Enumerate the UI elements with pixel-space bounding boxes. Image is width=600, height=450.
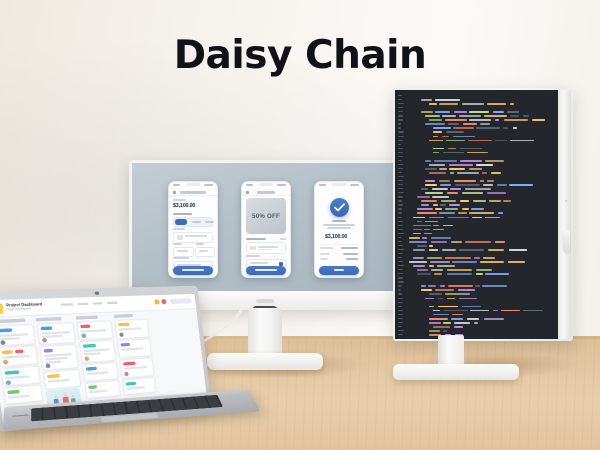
laptop-ports bbox=[12, 414, 29, 416]
code-line-number bbox=[398, 131, 404, 132]
code-line-number bbox=[398, 221, 403, 222]
code-token bbox=[447, 273, 473, 275]
kanban-card[interactable] bbox=[36, 322, 75, 345]
expiry-label bbox=[173, 243, 182, 245]
saved-card-row[interactable] bbox=[246, 242, 286, 254]
code-token bbox=[493, 310, 499, 312]
code-token bbox=[433, 127, 451, 129]
see-all-link[interactable] bbox=[280, 238, 286, 240]
code-token bbox=[432, 196, 449, 198]
code-line-number bbox=[398, 164, 403, 165]
code-token bbox=[480, 180, 485, 182]
code-token bbox=[413, 257, 424, 259]
code-token bbox=[431, 241, 447, 243]
monitor-primary-screen: $3,100.00 bbox=[132, 163, 398, 291]
code-line-number bbox=[398, 281, 404, 282]
code-line-number bbox=[398, 229, 403, 230]
code-token bbox=[484, 115, 507, 117]
code-token bbox=[467, 152, 488, 154]
code-token bbox=[469, 111, 488, 113]
code-token bbox=[476, 269, 493, 271]
code-token bbox=[440, 184, 452, 186]
kanban-card[interactable] bbox=[0, 365, 41, 386]
check-circle-icon bbox=[330, 198, 349, 217]
code-token bbox=[454, 111, 467, 113]
apply-promo-icon[interactable] bbox=[279, 262, 283, 266]
code-line-number bbox=[398, 245, 403, 246]
code-token bbox=[469, 212, 494, 214]
laptop: Project Dashboard Team Workspace bbox=[6, 286, 252, 438]
page-title: Daisy Chain bbox=[0, 33, 600, 78]
code-line-number bbox=[398, 241, 402, 242]
code-line-number bbox=[398, 115, 403, 116]
code-token bbox=[413, 225, 431, 227]
code-token bbox=[437, 265, 456, 267]
receipt-row-date bbox=[320, 258, 358, 261]
code-token bbox=[433, 225, 438, 227]
code-token bbox=[446, 140, 465, 142]
kanban-card[interactable] bbox=[117, 338, 152, 358]
amount-label bbox=[173, 199, 186, 201]
column-title bbox=[0, 319, 25, 323]
code-token bbox=[451, 318, 463, 320]
code-token bbox=[455, 184, 480, 186]
payment-methods-label bbox=[246, 238, 266, 240]
code-line-number bbox=[398, 289, 401, 290]
code-token bbox=[462, 192, 483, 194]
code-token bbox=[495, 140, 507, 142]
dashboard-topbar: Project Dashboard Team Workspace bbox=[0, 294, 196, 318]
code-token bbox=[453, 127, 474, 129]
code-line-number bbox=[398, 306, 402, 307]
app-subtitle: Team Workspace bbox=[7, 307, 31, 311]
code-line-number bbox=[398, 136, 404, 137]
code-token bbox=[417, 245, 427, 247]
code-token bbox=[503, 200, 511, 202]
kanban-card[interactable] bbox=[82, 362, 119, 382]
nav-item-tasks[interactable] bbox=[77, 303, 88, 306]
nav-item-board[interactable] bbox=[60, 303, 73, 306]
promo-banner: 50% OFF bbox=[246, 198, 286, 234]
code-token bbox=[452, 261, 477, 263]
code-token bbox=[443, 322, 451, 324]
success-subtitle bbox=[323, 224, 355, 226]
code-token bbox=[434, 160, 457, 162]
code-token bbox=[475, 285, 480, 287]
code-token bbox=[433, 314, 449, 316]
code-token bbox=[454, 180, 476, 182]
code-line-number bbox=[398, 249, 404, 250]
code-token bbox=[458, 212, 467, 214]
confirm-payment-button[interactable] bbox=[246, 266, 286, 275]
code-token bbox=[429, 140, 443, 142]
code-token bbox=[462, 306, 481, 308]
code-token bbox=[457, 172, 478, 174]
code-token bbox=[442, 136, 449, 138]
kanban-card[interactable] bbox=[43, 369, 82, 390]
code-token bbox=[483, 184, 493, 186]
code-token bbox=[421, 204, 429, 206]
code-token bbox=[503, 127, 508, 129]
success-amount: $3,100.00 bbox=[325, 234, 347, 240]
code-token bbox=[439, 168, 447, 170]
code-token bbox=[429, 318, 448, 320]
code-token bbox=[433, 326, 450, 328]
cvv-label bbox=[196, 243, 204, 245]
code-token bbox=[450, 172, 454, 174]
code-token bbox=[467, 318, 479, 320]
code-token bbox=[449, 164, 473, 166]
code-line-number bbox=[398, 293, 402, 294]
code-token bbox=[460, 148, 482, 150]
search-input[interactable] bbox=[170, 298, 192, 304]
code-line-number bbox=[398, 123, 401, 124]
code-token bbox=[432, 188, 448, 190]
monitor-secondary-stand-base bbox=[393, 364, 519, 380]
code-token bbox=[507, 111, 519, 113]
code-token bbox=[429, 322, 441, 324]
monitor-power-button[interactable] bbox=[563, 230, 570, 252]
code-token bbox=[417, 208, 433, 210]
payment-method-label bbox=[173, 213, 192, 215]
code-token bbox=[440, 285, 445, 287]
code-token bbox=[443, 330, 447, 332]
phone-nav-title bbox=[180, 191, 206, 194]
kanban-card[interactable] bbox=[3, 384, 43, 404]
code-token bbox=[460, 160, 482, 162]
code-token bbox=[409, 261, 427, 263]
code-line-number bbox=[398, 225, 403, 226]
code-token bbox=[435, 208, 442, 210]
code-token bbox=[429, 293, 442, 295]
code-token bbox=[462, 208, 469, 210]
code-line-number bbox=[398, 140, 403, 141]
code-line-number bbox=[398, 208, 402, 209]
code-token bbox=[448, 123, 459, 125]
code-token bbox=[421, 111, 433, 113]
code-token bbox=[474, 257, 480, 259]
kanban-card[interactable] bbox=[122, 377, 157, 396]
code-token bbox=[497, 184, 507, 186]
card-number-field[interactable] bbox=[173, 232, 213, 243]
code-token bbox=[425, 298, 434, 300]
code-line-number bbox=[398, 217, 402, 218]
code-token bbox=[488, 249, 504, 251]
code-token bbox=[510, 140, 534, 142]
receipt-row-method bbox=[320, 253, 358, 256]
amount-value: $3,100.00 bbox=[173, 203, 195, 209]
code-token bbox=[433, 152, 439, 154]
kanban-card[interactable] bbox=[0, 324, 36, 347]
code-token bbox=[417, 221, 422, 223]
code-token bbox=[424, 229, 431, 231]
success-subtitle-2 bbox=[327, 227, 351, 229]
code-token bbox=[421, 289, 432, 291]
code-token bbox=[460, 200, 469, 202]
code-token bbox=[429, 249, 439, 251]
code-token bbox=[429, 265, 434, 267]
payment-method-segmented[interactable] bbox=[173, 217, 213, 227]
kanban-card[interactable] bbox=[79, 339, 116, 363]
code-token bbox=[463, 123, 478, 125]
code-token bbox=[424, 233, 432, 235]
code-token bbox=[442, 249, 456, 251]
phone-nav-bar bbox=[169, 189, 217, 196]
phone-status-bar bbox=[319, 184, 359, 187]
code-token bbox=[495, 119, 499, 121]
code-line-number bbox=[398, 318, 403, 319]
code-line-number bbox=[398, 314, 403, 315]
code-line-number bbox=[398, 156, 403, 157]
code-token bbox=[429, 217, 444, 219]
code-token bbox=[422, 237, 427, 239]
done-button[interactable] bbox=[319, 266, 359, 275]
code-token bbox=[476, 164, 492, 166]
success-title bbox=[332, 220, 346, 222]
phone-nav-bar bbox=[242, 189, 290, 196]
code-token bbox=[532, 119, 545, 121]
code-token bbox=[476, 273, 483, 275]
code-token bbox=[450, 188, 461, 190]
code-token bbox=[435, 111, 450, 113]
code-token bbox=[468, 140, 492, 142]
code-token bbox=[425, 160, 431, 162]
monitor-primary-logo bbox=[256, 299, 274, 303]
code-token bbox=[443, 152, 464, 154]
code-token bbox=[447, 269, 472, 271]
code-token bbox=[425, 184, 437, 186]
code-token bbox=[425, 192, 443, 194]
promo-code-label bbox=[246, 255, 260, 257]
avatar[interactable] bbox=[161, 299, 167, 304]
code-token bbox=[429, 164, 445, 166]
code-token bbox=[421, 200, 437, 202]
code-token bbox=[469, 168, 482, 170]
code-token bbox=[447, 298, 455, 300]
code-token bbox=[470, 310, 489, 312]
code-token bbox=[441, 200, 456, 202]
code-token bbox=[428, 285, 436, 287]
phone-nav-title bbox=[257, 191, 275, 194]
code-token bbox=[440, 204, 445, 206]
avatar[interactable] bbox=[154, 299, 160, 304]
code-line-number bbox=[398, 326, 402, 327]
code-token bbox=[409, 241, 427, 243]
expiry-field[interactable] bbox=[173, 247, 194, 257]
back-icon[interactable] bbox=[173, 191, 176, 194]
code-token bbox=[413, 229, 422, 231]
receipt-row-reference bbox=[320, 247, 358, 250]
code-line-number bbox=[398, 160, 402, 161]
code-token bbox=[487, 192, 506, 194]
continue-button[interactable] bbox=[173, 266, 213, 275]
code-line-number bbox=[398, 237, 401, 238]
kanban-card[interactable] bbox=[119, 357, 154, 379]
code-token bbox=[444, 310, 468, 312]
code-token bbox=[458, 289, 475, 291]
code-token bbox=[433, 148, 444, 150]
code-token bbox=[443, 225, 454, 227]
code-token bbox=[471, 208, 483, 210]
column-title bbox=[114, 314, 133, 318]
code-token bbox=[485, 273, 509, 275]
phone-status-bar bbox=[246, 184, 286, 187]
code-line-number bbox=[398, 285, 402, 286]
code-line-number bbox=[398, 330, 404, 331]
code-token bbox=[473, 200, 486, 202]
code-token bbox=[523, 310, 544, 312]
code-token bbox=[484, 318, 505, 320]
code-token bbox=[491, 172, 501, 174]
code-token bbox=[421, 285, 426, 287]
code-token bbox=[462, 103, 484, 105]
code-token bbox=[472, 217, 481, 219]
code-token bbox=[510, 115, 519, 117]
segment-option-3[interactable] bbox=[205, 221, 214, 223]
code-line-number bbox=[398, 310, 403, 311]
code-token bbox=[435, 99, 460, 101]
code-line-number bbox=[398, 298, 403, 299]
code-token bbox=[523, 115, 529, 117]
divider bbox=[320, 244, 358, 245]
code-token bbox=[431, 237, 451, 239]
code-line-number bbox=[398, 127, 401, 128]
segment-option-2[interactable] bbox=[192, 221, 201, 223]
code-token bbox=[453, 136, 475, 138]
code-token bbox=[459, 298, 477, 300]
kanban-card[interactable] bbox=[39, 344, 79, 371]
code-token bbox=[413, 217, 425, 219]
code-token bbox=[425, 221, 438, 223]
kanban-card[interactable] bbox=[84, 380, 120, 399]
code-line-number bbox=[398, 277, 403, 278]
code-token bbox=[501, 310, 520, 312]
code-token bbox=[445, 119, 467, 121]
cvv-field[interactable] bbox=[195, 247, 215, 257]
code-token bbox=[439, 180, 451, 182]
nav-item-team[interactable] bbox=[107, 302, 118, 305]
code-token bbox=[510, 103, 515, 105]
code-token bbox=[417, 196, 430, 198]
kanban-card[interactable] bbox=[114, 319, 149, 340]
code-token bbox=[425, 180, 435, 182]
code-line-number bbox=[398, 168, 403, 169]
code-token bbox=[489, 200, 501, 202]
cardholder-label bbox=[173, 257, 189, 259]
code-token bbox=[429, 306, 434, 308]
code-line-number bbox=[398, 148, 403, 149]
phone-mockup-payment-success: $3,100.00 bbox=[314, 181, 364, 278]
code-token bbox=[485, 217, 500, 219]
code-token bbox=[433, 310, 440, 312]
code-token bbox=[431, 269, 443, 271]
phone-status-bar bbox=[173, 184, 213, 187]
code-token bbox=[480, 261, 504, 263]
code-token bbox=[451, 241, 462, 243]
code-token bbox=[417, 212, 437, 214]
code-token bbox=[417, 269, 428, 271]
code-token bbox=[429, 119, 442, 121]
code-token bbox=[447, 192, 459, 194]
webcam-icon bbox=[95, 291, 99, 295]
code-token bbox=[508, 261, 526, 263]
code-token bbox=[474, 322, 478, 324]
code-token bbox=[429, 172, 446, 174]
code-token bbox=[513, 127, 517, 129]
code-token bbox=[454, 326, 463, 328]
code-line-number bbox=[398, 152, 403, 153]
code-line-number bbox=[398, 200, 402, 201]
column-title bbox=[76, 315, 98, 319]
code-token bbox=[438, 306, 458, 308]
code-token bbox=[459, 249, 484, 251]
promo-text: 50% OFF bbox=[252, 213, 280, 220]
code-token bbox=[417, 273, 431, 275]
code-line-number bbox=[398, 212, 402, 213]
code-token bbox=[448, 148, 456, 150]
code-token bbox=[442, 115, 455, 117]
code-token bbox=[409, 237, 420, 239]
code-token bbox=[469, 119, 491, 121]
code-token bbox=[438, 298, 444, 300]
code-token bbox=[425, 168, 437, 170]
monitor-secondary-side-panel bbox=[558, 90, 571, 339]
code-token bbox=[465, 241, 491, 243]
code-token bbox=[445, 293, 470, 295]
code-token bbox=[433, 204, 438, 206]
code-token bbox=[429, 245, 433, 247]
code-token bbox=[425, 123, 445, 125]
code-token bbox=[493, 111, 505, 113]
code-line-number bbox=[398, 302, 403, 303]
kanban-card[interactable] bbox=[76, 320, 113, 340]
nav-item-files[interactable] bbox=[93, 302, 103, 305]
code-token bbox=[433, 229, 444, 231]
back-icon[interactable] bbox=[246, 191, 249, 194]
kanban-card[interactable] bbox=[0, 345, 38, 367]
code-token bbox=[485, 160, 504, 162]
code-line-number bbox=[398, 144, 401, 145]
code-token bbox=[439, 212, 455, 214]
code-token bbox=[495, 241, 505, 243]
code-token bbox=[434, 273, 442, 275]
code-token bbox=[427, 257, 441, 259]
code-line-number bbox=[398, 322, 403, 323]
column-title bbox=[36, 317, 62, 321]
monitor-primary-stand-neck bbox=[248, 308, 282, 356]
code-token bbox=[429, 103, 437, 105]
code-token bbox=[482, 172, 487, 174]
code-token bbox=[483, 257, 495, 259]
code-token bbox=[430, 261, 450, 263]
code-token bbox=[439, 103, 458, 105]
segment-card-selected[interactable] bbox=[175, 219, 188, 225]
phone-mockup-payment-details: $3,100.00 bbox=[168, 181, 218, 278]
code-token bbox=[433, 136, 438, 138]
code-editor-screen[interactable] bbox=[395, 90, 558, 339]
product-scene: Daisy Chain $3,100.00 bbox=[0, 0, 600, 450]
code-token bbox=[433, 131, 442, 133]
monitor-secondary bbox=[393, 88, 573, 341]
code-line-number bbox=[398, 233, 404, 234]
code-line-number bbox=[398, 204, 403, 205]
code-token bbox=[413, 249, 425, 251]
code-token bbox=[454, 322, 470, 324]
code-token bbox=[449, 168, 465, 170]
code-token bbox=[487, 180, 494, 182]
monitor-status-led bbox=[565, 200, 567, 202]
code-token bbox=[498, 212, 503, 214]
